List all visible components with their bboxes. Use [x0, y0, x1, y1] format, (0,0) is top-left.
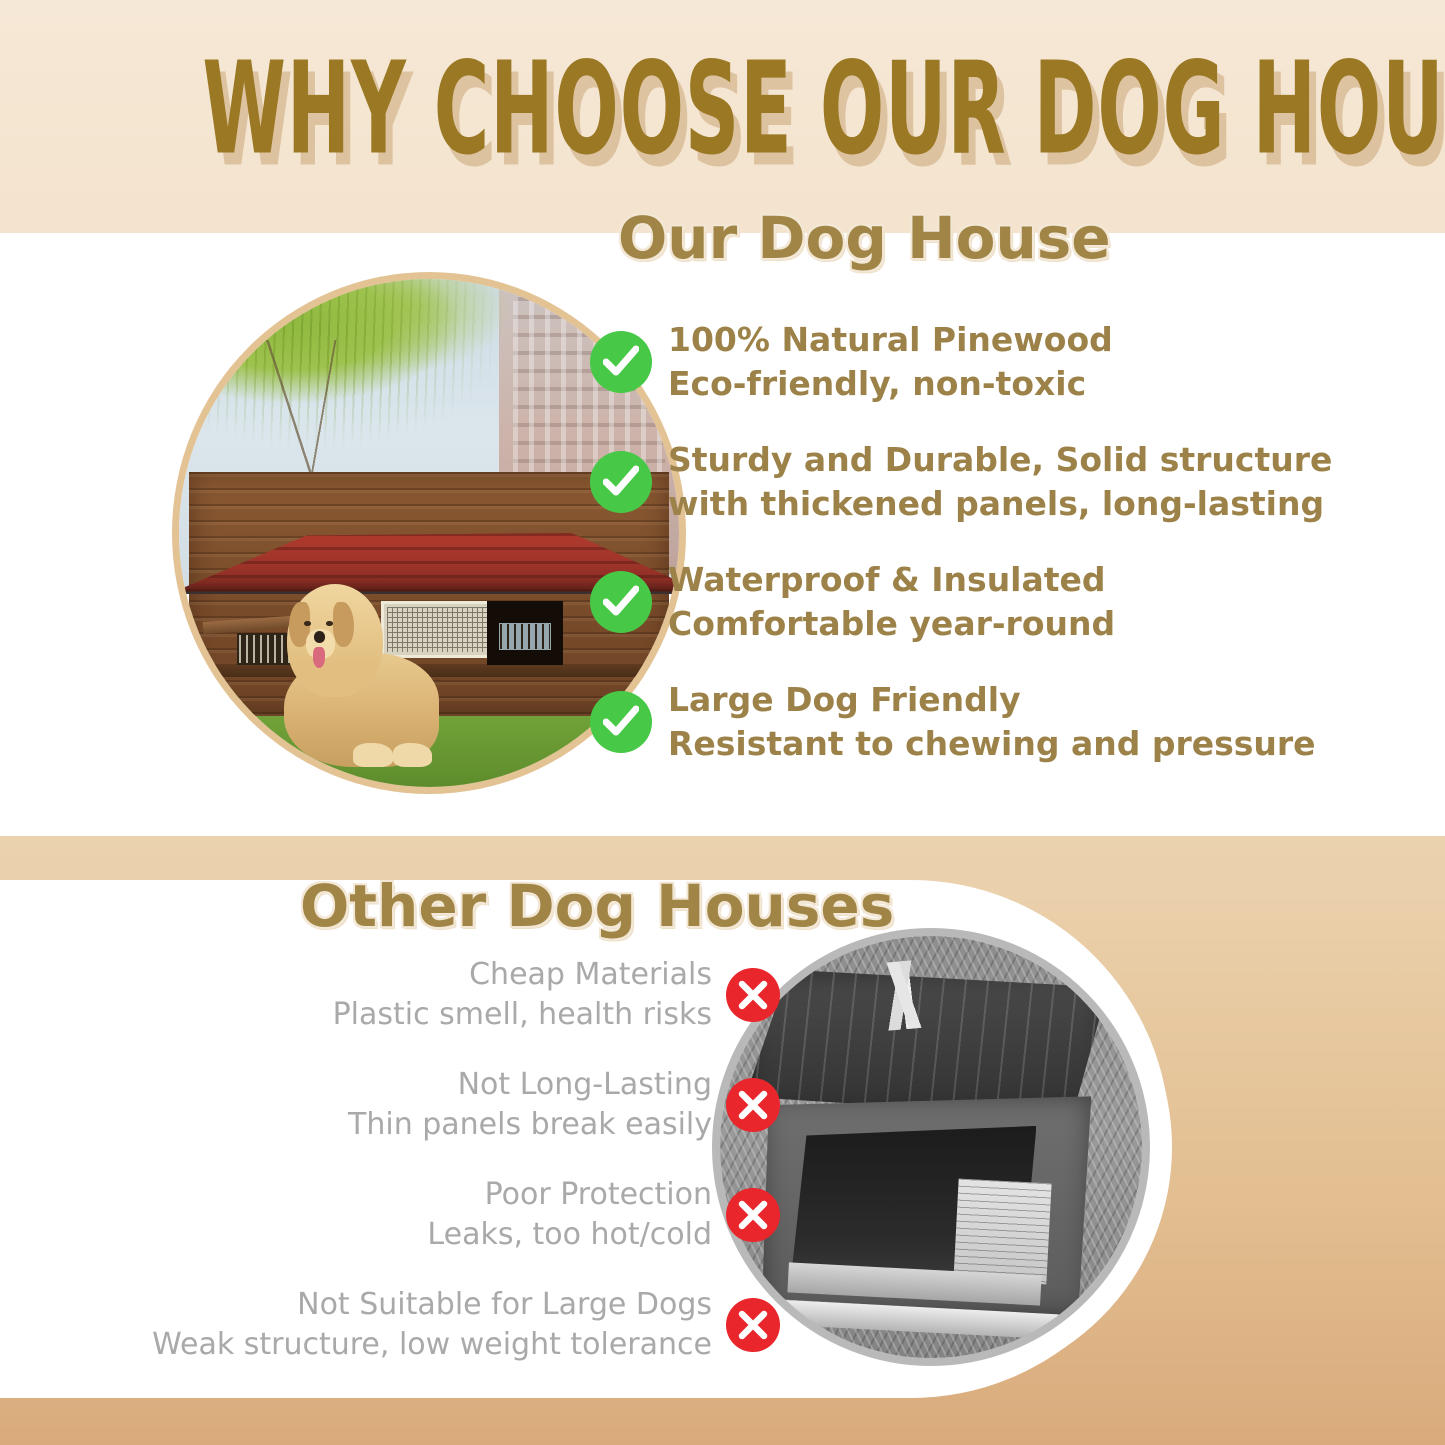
drawback-row: Not Long-Lasting Thin panels break easil…: [100, 1065, 780, 1145]
feature-line-1: Sturdy and Durable, Solid structure: [668, 440, 1332, 479]
infographic-root: WHY CHOOSE OUR DOG HOUSE?" Our Dog House: [0, 0, 1445, 1445]
cross-icon: [726, 1188, 780, 1242]
drawback-row: Cheap Materials Plastic smell, health ri…: [100, 955, 780, 1035]
drawback-line-2: Leaks, too hot/cold: [427, 1217, 712, 1252]
feature-text: Large Dog Friendly Resistant to chewing …: [668, 678, 1316, 766]
feature-row: Waterproof & Insulated Comfortable year-…: [590, 558, 1390, 646]
drawback-line-1: Poor Protection: [485, 1177, 712, 1212]
feature-text: Waterproof & Insulated Comfortable year-…: [668, 558, 1115, 646]
feature-line-1: 100% Natural Pinewood: [668, 320, 1113, 359]
dog-nose: [314, 631, 325, 642]
check-icon: [590, 331, 652, 393]
golden-retriever-dog: [274, 584, 439, 767]
feature-line-2: Comfortable year-round: [668, 604, 1115, 643]
drawback-line-2: Weak structure, low weight tolerance: [152, 1327, 712, 1362]
dog-tongue: [313, 647, 325, 667]
cross-icon: [726, 1298, 780, 1352]
drawback-text: Poor Protection Leaks, too hot/cold: [427, 1175, 712, 1255]
dog-head: [287, 584, 383, 697]
feature-text: 100% Natural Pinewood Eco-friendly, non-…: [668, 318, 1113, 406]
feature-line-2: with thickened panels, long-lasting: [668, 484, 1324, 523]
dog-ear-right: [333, 602, 354, 647]
drawback-text: Cheap Materials Plastic smell, health ri…: [333, 955, 712, 1035]
our-features-list: 100% Natural Pinewood Eco-friendly, non-…: [590, 318, 1390, 766]
drawback-line-1: Cheap Materials: [469, 957, 712, 992]
feature-line-1: Waterproof & Insulated: [668, 560, 1106, 599]
drawback-row: Poor Protection Leaks, too hot/cold: [100, 1175, 780, 1255]
cross-icon: [726, 968, 780, 1022]
dog-eye-left: [304, 621, 311, 626]
feature-row: Large Dog Friendly Resistant to chewing …: [590, 678, 1390, 766]
drawback-line-1: Not Long-Lasting: [458, 1067, 712, 1102]
feature-row: Sturdy and Durable, Solid structure with…: [590, 438, 1390, 526]
drawback-text: Not Long-Lasting Thin panels break easil…: [348, 1065, 712, 1145]
drawback-line-1: Not Suitable for Large Dogs: [297, 1287, 712, 1322]
our-dog-house-heading: Our Dog House: [618, 208, 1111, 268]
feature-text: Sturdy and Durable, Solid structure with…: [668, 438, 1332, 526]
dog-paw-left: [353, 743, 393, 767]
drawback-text: Not Suitable for Large Dogs Weak structu…: [152, 1285, 712, 1365]
other-dog-houses-heading: Other Dog Houses: [300, 876, 894, 936]
check-icon: [590, 571, 652, 633]
page-title: WHY CHOOSE OUR DOG HOUSE?": [202, 44, 1445, 176]
check-icon: [590, 691, 652, 753]
check-icon: [590, 451, 652, 513]
feature-row: 100% Natural Pinewood Eco-friendly, non-…: [590, 318, 1390, 406]
door-window: [499, 623, 552, 650]
dog-eye-right: [326, 621, 333, 626]
drawback-line-2: Plastic smell, health risks: [333, 997, 712, 1032]
dog-paw-right: [393, 743, 433, 767]
feature-line-2: Eco-friendly, non-toxic: [668, 364, 1086, 403]
drawback-line-2: Thin panels break easily: [348, 1107, 712, 1142]
feature-line-1: Large Dog Friendly: [668, 680, 1021, 719]
loose-plank: [954, 1178, 1052, 1284]
cross-icon: [726, 1078, 780, 1132]
page-title-wrapper: WHY CHOOSE OUR DOG HOUSE?": [0, 44, 1445, 164]
feature-line-2: Resistant to chewing and pressure: [668, 724, 1316, 763]
other-drawbacks-list: Cheap Materials Plastic smell, health ri…: [100, 955, 780, 1365]
drawback-row: Not Suitable for Large Dogs Weak structu…: [100, 1285, 780, 1365]
